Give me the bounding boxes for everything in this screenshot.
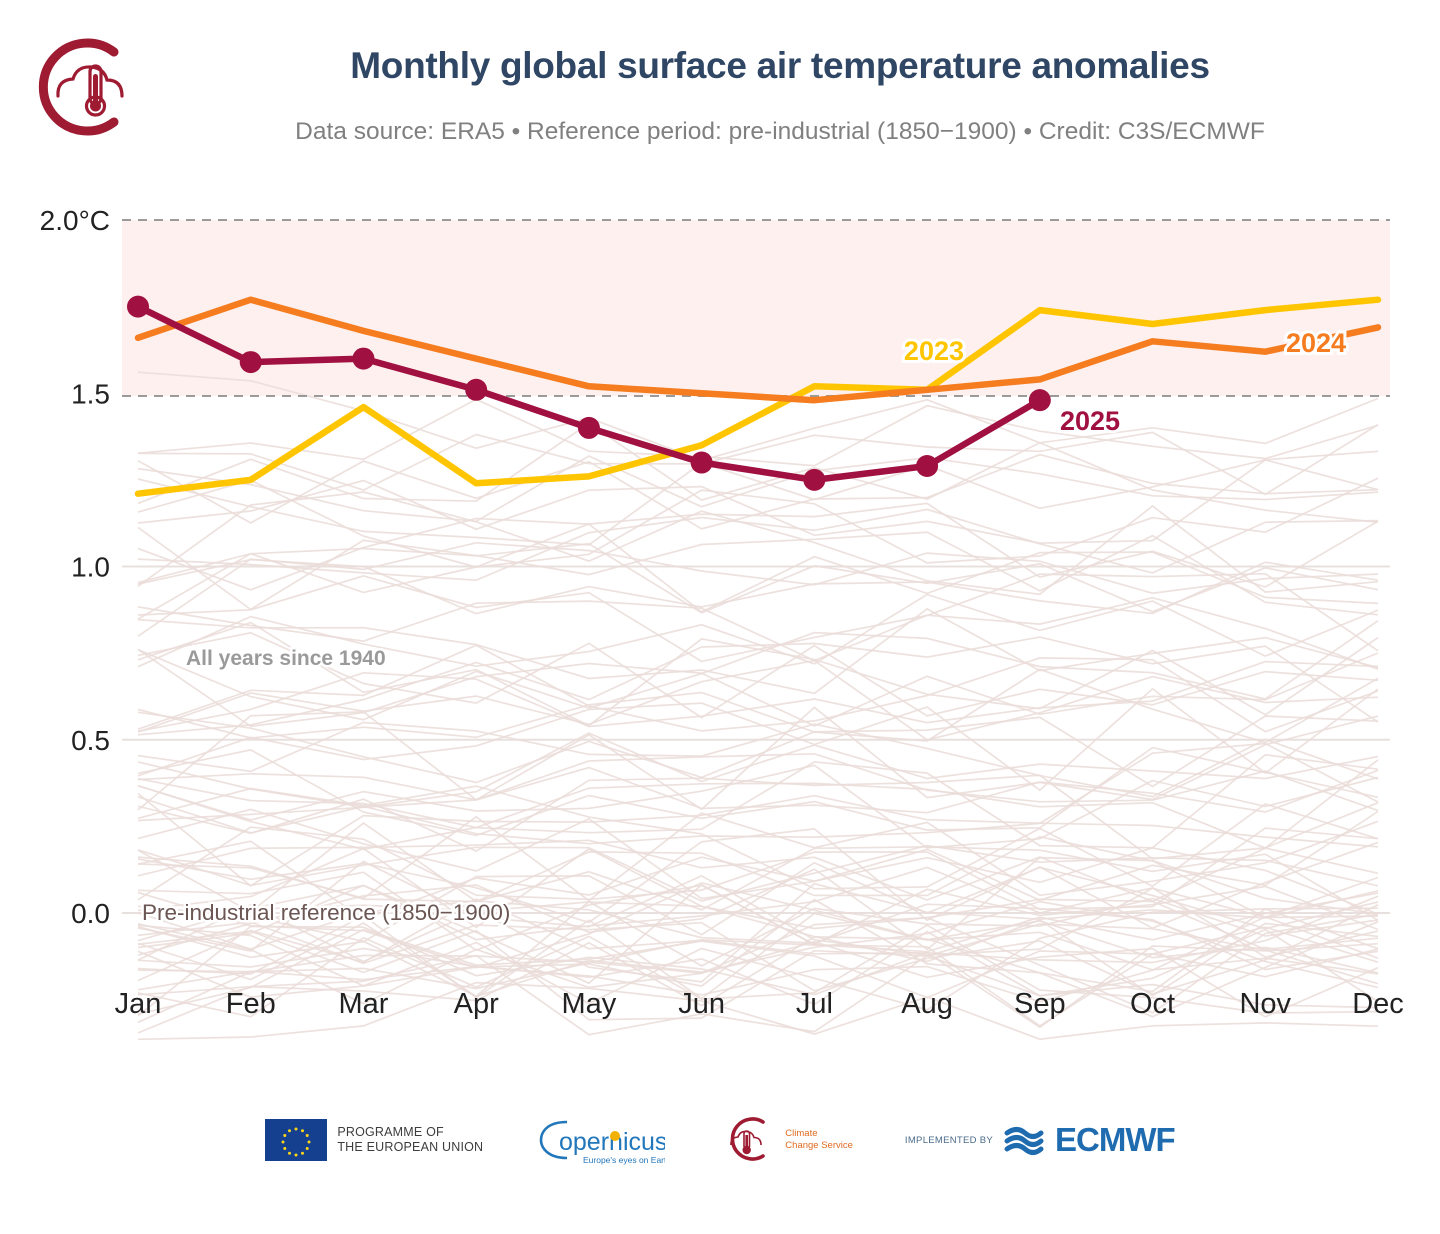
x-tick-label-Apr: Apr [454, 988, 499, 1020]
background-year-line [138, 942, 1378, 1017]
x-tick-label-Mar: Mar [338, 988, 388, 1020]
data-point-2025-Jul[interactable] [803, 469, 825, 491]
eu-programme-text: PROGRAMME OFTHE EUROPEAN UNION [337, 1125, 483, 1155]
svg-text:Europe's eyes on Earth: Europe's eyes on Earth [583, 1155, 665, 1165]
c3s-small-logo-icon [715, 1116, 775, 1164]
background-year-line [138, 775, 1378, 859]
background-year-line [138, 527, 1378, 614]
series-label-2024: 2024 [1286, 328, 1346, 358]
c3s-line-2: Change Service [785, 1140, 853, 1151]
data-point-2025-Aug[interactable] [916, 455, 938, 477]
data-point-2025-Jan[interactable] [127, 296, 149, 318]
eu-logo-block: PROGRAMME OFTHE EUROPEAN UNION [265, 1119, 483, 1161]
background-year-line [138, 748, 1378, 836]
x-tick-label-Nov: Nov [1239, 988, 1291, 1020]
data-point-2025-May[interactable] [578, 417, 600, 439]
temperature-anomaly-line-chart: All years since 1940 Pre-industrial refe… [0, 185, 1440, 1065]
y-tick-label: 0.5 [71, 725, 110, 756]
chart-subtitle: Data source: ERA5 • Reference period: pr… [150, 118, 1410, 146]
copernicus-logo-block: opernicus Europe's eyes on Earth [537, 1114, 665, 1166]
x-tick-label-May: May [562, 988, 617, 1020]
x-tick-label-Feb: Feb [226, 988, 276, 1020]
x-tick-label-Aug: Aug [901, 988, 953, 1020]
data-point-2025-Mar[interactable] [352, 348, 374, 370]
chart-header: Monthly global surface air temperature a… [0, 0, 1440, 185]
y-tick-label: 0.0 [71, 898, 110, 929]
background-year-line [138, 451, 1378, 545]
y-axis-labels: 0.00.51.01.52.0°C [40, 205, 110, 929]
x-tick-label-Oct: Oct [1130, 988, 1175, 1020]
background-year-line [138, 509, 1378, 580]
implemented-by-label: IMPLEMENTED BY [905, 1135, 993, 1146]
y-tick-label: 1.0 [71, 552, 110, 583]
annotation-pre-industrial: Pre-industrial reference (1850−1900) [142, 900, 510, 925]
series-label-2025: 2025 [1060, 406, 1120, 436]
series-label-2023: 2023 [904, 336, 964, 366]
c3s-logo-icon [28, 34, 134, 140]
background-year-line [138, 623, 1378, 726]
chart-page: Monthly global surface air temperature a… [0, 0, 1440, 1234]
c3s-logo-block: Climate Change Service [715, 1116, 853, 1164]
eu-line-1: PROGRAMME OF [337, 1125, 444, 1139]
data-point-2025-Feb[interactable] [240, 351, 262, 373]
page-title: Monthly global surface air temperature a… [150, 45, 1410, 87]
eu-line-2: THE EUROPEAN UNION [337, 1140, 483, 1154]
chart-footer-logos: PROGRAMME OFTHE EUROPEAN UNION opernicus… [0, 1085, 1440, 1195]
c3s-line-1: Climate [785, 1128, 817, 1139]
svg-text:All years since 1940: All years since 1940 [186, 647, 386, 670]
data-point-2025-Jun[interactable] [691, 452, 713, 474]
annotation-all-years: All years since 1940 [186, 647, 386, 670]
data-point-2025-Apr[interactable] [465, 379, 487, 401]
copernicus-logo-icon: opernicus Europe's eyes on Earth [537, 1114, 665, 1166]
svg-text:Pre-industrial reference (1850: Pre-industrial reference (1850−1900) [142, 900, 510, 925]
data-point-2025-Sep[interactable] [1029, 389, 1051, 411]
eu-flag-icon [265, 1119, 327, 1161]
x-axis-labels: JanFebMarAprMayJunJulAugSepOctNovDec [115, 988, 1404, 1020]
background-year-line [138, 723, 1378, 797]
x-tick-label-Sep: Sep [1014, 988, 1066, 1020]
chart-plot-area: All years since 1940 Pre-industrial refe… [0, 185, 1440, 1065]
warming-band-1p5-2p0 [122, 220, 1390, 396]
ecmwf-mark-icon [1001, 1123, 1047, 1157]
x-tick-label-Jun: Jun [678, 988, 725, 1020]
y-tick-label: 1.5 [71, 378, 110, 409]
ecmwf-wordmark: ECMWF [1055, 1121, 1175, 1159]
background-year-line [138, 669, 1378, 742]
x-tick-label-Jan: Jan [115, 988, 162, 1020]
x-tick-label-Jul: Jul [796, 988, 833, 1020]
x-tick-label-Dec: Dec [1352, 988, 1404, 1020]
ecmwf-logo-block: IMPLEMENTED BY ECMWF [905, 1121, 1175, 1159]
y-tick-label: 2.0°C [40, 205, 110, 236]
